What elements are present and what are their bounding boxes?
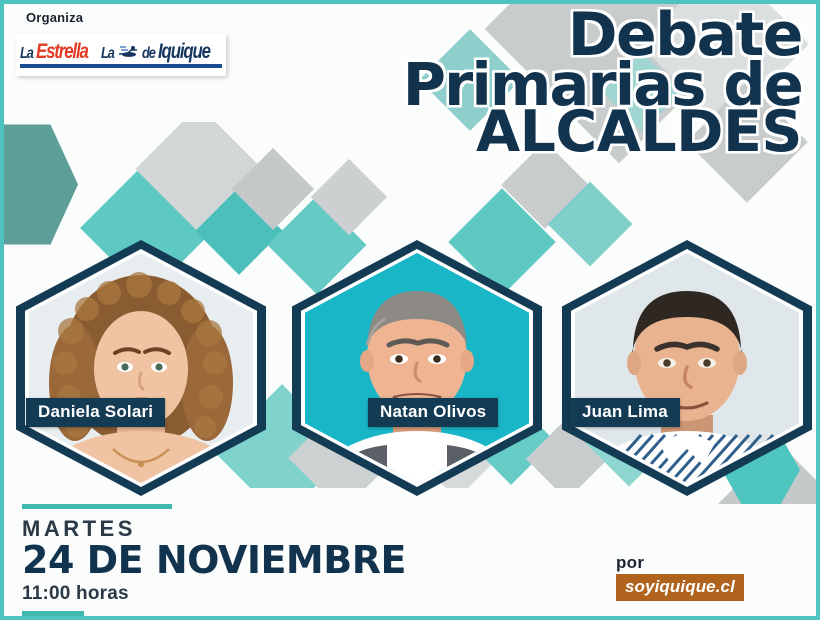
estrella-de-iquique-logo[interactable]: La Estrella La de Iquique <box>16 34 226 76</box>
date-rule-top <box>22 504 172 509</box>
event-time: 11:00 horas <box>22 583 412 605</box>
event-date: 24 DE NOVIEMBRE <box>22 541 412 581</box>
sponsor-block: por soyiquique.cl <box>616 554 744 601</box>
star-runner-emblem-icon <box>117 42 141 58</box>
logo-word-la-2: La <box>101 46 114 62</box>
sponsor-site-badge[interactable]: soyiquique.cl <box>616 574 744 601</box>
poster-canvas: Organiza La Estrella La de Iquique <box>4 4 816 616</box>
candidate-name-badge: Juan Lima <box>570 398 680 427</box>
decor-square-gray-6 <box>311 159 387 235</box>
logo-word-de: de <box>142 46 155 62</box>
date-rule-bottom <box>22 611 84 616</box>
logo-word-la-1: La <box>20 46 33 62</box>
poster: Organiza La Estrella La de Iquique <box>0 0 820 620</box>
page-title: Debate Primarias de ALCALDES <box>403 8 802 159</box>
candidate-name-badge: Natan Olivos <box>368 398 498 427</box>
candidate-card-juan-lima[interactable]: Juan Lima <box>562 240 812 496</box>
candidate-card-daniela-solari[interactable]: Daniela Solari <box>16 240 266 496</box>
organizer-label: Organiza <box>26 10 83 25</box>
logo-underline <box>20 64 222 68</box>
decor-square-gray-4 <box>135 105 262 232</box>
sponsor-by-label: por <box>616 554 744 571</box>
logo-wordmark: La Estrella La de Iquique <box>20 41 222 62</box>
logo-word-iquique: Iquique <box>158 41 210 62</box>
decor-square-gray-5 <box>232 148 314 230</box>
logo-word-estrella: Estrella <box>36 41 88 62</box>
decor-hexagon-left <box>4 122 78 247</box>
event-date-block: MARTES 24 DE NOVIEMBRE 11:00 horas <box>22 504 412 616</box>
candidate-name-badge: Daniela Solari <box>26 398 165 427</box>
sponsor-site-label: soyiquique.cl <box>625 577 735 596</box>
candidate-card-natan-olivos[interactable]: Natan Olivos <box>292 240 542 496</box>
event-weekday: MARTES <box>22 518 412 540</box>
